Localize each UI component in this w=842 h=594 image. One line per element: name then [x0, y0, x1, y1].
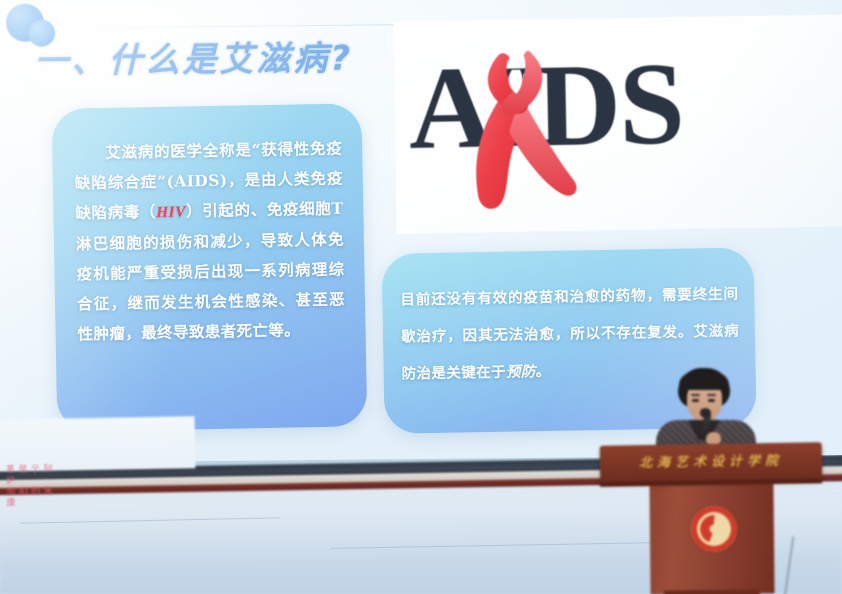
- prevention-emphasis: 预防: [506, 364, 536, 381]
- aids-logo: AIDS: [407, 37, 780, 224]
- podium-cable: [784, 536, 795, 594]
- presenter-fringe: [679, 373, 729, 390]
- presenter-eye-left: [692, 399, 699, 402]
- definition-card-body: 艾滋病的医学全称是“获得性免疫缺陷综合症”(AIDS)，是由人类免疫缺陷病毒（H…: [51, 103, 365, 350]
- presenter-brow-right: [707, 394, 716, 396]
- wall-calligraphy-text: 革 是 亍 列 炉 加 扣 的 朱 康: [6, 463, 64, 490]
- hiv-emphasis: HIV: [156, 203, 186, 221]
- definition-card: 艾滋病的医学全称是“获得性免疫缺陷综合症”(AIDS)，是由人类免疫缺陷病毒（H…: [51, 103, 367, 432]
- presenter-brow-left: [691, 394, 700, 396]
- lecture-hall-scene: 一、什么是艾滋病? AIDS: [0, 0, 842, 594]
- microphone-head-icon: [700, 408, 711, 418]
- school-emblem-icon: [691, 506, 737, 552]
- podium: 北海艺术设计学院: [588, 440, 838, 594]
- prevention-text-part2: 。: [536, 363, 551, 380]
- emblem-swirl: [700, 515, 728, 543]
- presenter-eye-right: [708, 399, 715, 402]
- podium-name-plate: 北海艺术设计学院: [616, 450, 806, 472]
- red-awareness-ribbon-icon: [454, 45, 587, 217]
- slide-title: 一、什么是艾滋病?: [34, 31, 353, 83]
- podium-base: [664, 589, 760, 594]
